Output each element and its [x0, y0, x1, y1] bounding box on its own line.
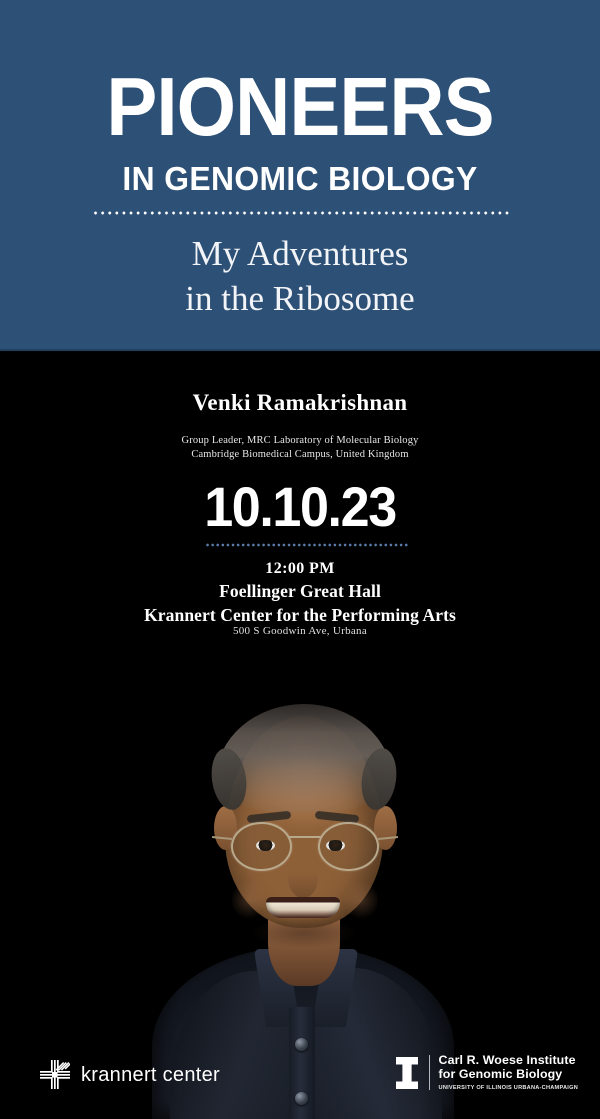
krannert-center-logo[interactable]: krannert center [40, 1060, 220, 1089]
eyeglass-lens-right [318, 822, 379, 871]
shirt-button-upper [295, 1038, 308, 1051]
logo-divider [429, 1055, 430, 1090]
portrait-figure [148, 680, 458, 1119]
dotted-divider-date [205, 543, 408, 547]
talk-title-line1: My Adventures [0, 232, 600, 277]
event-time: 12:00 PM [0, 560, 600, 578]
poster-header-band: PIONEERS IN GENOMIC BIOLOGY My Adventure… [0, 0, 600, 351]
speaker-portrait [0, 660, 600, 1119]
krannert-pinwheel-cross-icon [40, 1060, 70, 1089]
eyeglass-bridge [288, 836, 322, 838]
krannert-center-wordmark: krannert center [81, 1065, 220, 1085]
venue-line2: Krannert Center for the Performing Arts [0, 604, 600, 628]
speaker-affiliation: Group Leader, MRC Laboratory of Molecula… [0, 434, 600, 462]
portrait-nose [288, 858, 318, 898]
affiliation-line1: Group Leader, MRC Laboratory of Molecula… [0, 434, 600, 448]
speaker-name: Venki Ramakrishnan [0, 390, 600, 416]
venue-line1: Foellinger Great Hall [0, 580, 600, 604]
igb-logo[interactable]: Carl R. Woese Institute for Genomic Biol… [394, 1054, 578, 1091]
event-venue: Foellinger Great Hall Krannert Center fo… [0, 580, 600, 627]
portrait-chin-shadow [252, 918, 356, 948]
talk-title-line2: in the Ribosome [0, 277, 600, 322]
igb-lockup-text: Carl R. Woese Institute for Genomic Biol… [439, 1054, 578, 1091]
talk-title: My Adventures in the Ribosome [0, 232, 600, 322]
portrait-cheek-left [232, 880, 266, 920]
portrait-smile [266, 897, 340, 918]
igb-name-line1: Carl R. Woese Institute [439, 1054, 578, 1068]
event-poster: PIONEERS IN GENOMIC BIOLOGY My Adventure… [0, 0, 600, 1119]
event-date: 10.10.23 [21, 479, 579, 535]
event-address: 500 S Goodwin Ave, Urbana [0, 625, 600, 637]
shirt-button-lower [295, 1092, 308, 1105]
series-title-line2: IN GENOMIC BIOLOGY [15, 163, 585, 197]
portrait-hair [216, 704, 392, 812]
eyeglass-lens-left [231, 822, 292, 871]
igb-name-line2: for Genomic Biology [439, 1068, 578, 1082]
dotted-divider-top [92, 211, 509, 215]
portrait-cheek-right [344, 880, 378, 920]
block-i-icon [394, 1056, 420, 1090]
igb-university-line: UNIVERSITY OF ILLINOIS URBANA-CHAMPAIGN [439, 1085, 578, 1091]
affiliation-line2: Cambridge Biomedical Campus, United King… [0, 448, 600, 462]
series-title-line1: PIONEERS [24, 69, 576, 145]
